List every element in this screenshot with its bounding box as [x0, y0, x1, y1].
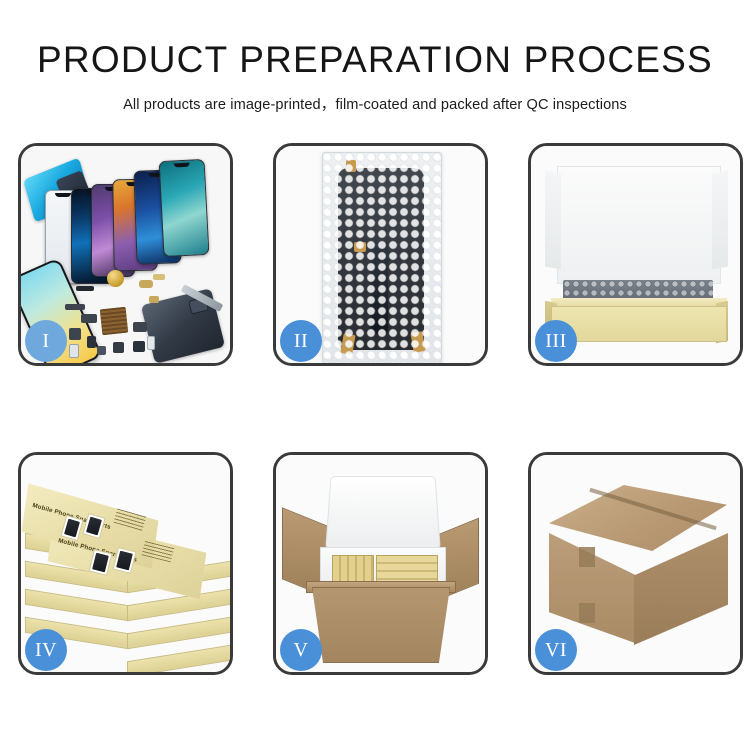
step-numeral: VI	[545, 639, 567, 662]
box-lid-icon	[557, 166, 721, 284]
gold-contact-icon	[354, 242, 366, 252]
carton-tape-icon	[579, 603, 595, 623]
spare-part-icon	[149, 296, 159, 303]
header: PRODUCT PREPARATION PROCESS All products…	[0, 40, 750, 114]
phone-icon-5	[159, 159, 210, 257]
spare-part-icon	[81, 314, 97, 323]
process-step-grid: I II	[18, 143, 743, 675]
step-numeral: V	[294, 639, 309, 662]
process-step-panel-5[interactable]: V	[273, 452, 488, 675]
spare-part-icon	[133, 322, 147, 332]
spare-part-icon	[76, 286, 94, 291]
spare-part-icon	[147, 336, 155, 350]
gold-contact-icon	[346, 160, 356, 172]
product-preparation-infographic: PRODUCT PREPARATION PROCESS All products…	[0, 0, 750, 750]
carton-top-face	[549, 485, 727, 551]
foam-box-lid-icon	[325, 476, 440, 549]
spare-part-icon	[133, 341, 145, 352]
spare-part-icon	[153, 274, 165, 280]
process-step-panel-1[interactable]: I	[18, 143, 233, 366]
stacked-box	[127, 645, 230, 672]
speaker-component-icon	[107, 270, 124, 287]
process-step-panel-3[interactable]: III	[528, 143, 743, 366]
step-badge-2: II	[280, 320, 322, 362]
step-numeral: III	[545, 330, 566, 353]
carton-front	[312, 587, 450, 663]
step-badge-1: I	[25, 320, 67, 362]
inner-box-front	[551, 306, 727, 342]
box-lid-right-flap	[712, 171, 728, 270]
step-numeral: IV	[35, 639, 57, 662]
stacked-box	[127, 617, 230, 649]
carton-tape-icon	[579, 547, 595, 567]
page-subtitle: All products are image-printed，film-coat…	[0, 93, 750, 114]
step-badge-3: III	[535, 320, 577, 362]
spare-part-icon	[97, 346, 106, 355]
step-badge-5: V	[280, 629, 322, 671]
process-step-panel-4[interactable]: Mobile Phone Spare Parts Mobile Phone Sp…	[18, 452, 233, 675]
step-badge-6: VI	[535, 629, 577, 671]
spare-part-icon	[87, 336, 96, 348]
spare-part-icon	[139, 280, 153, 288]
spare-part-icon	[113, 342, 124, 353]
flex-cable-icon	[370, 242, 388, 334]
spare-part-icon	[69, 344, 79, 358]
step-badge-4: IV	[25, 629, 67, 671]
step-numeral: II	[294, 330, 308, 353]
spare-part-icon	[69, 328, 81, 340]
step-numeral: I	[42, 330, 49, 353]
page-title: PRODUCT PREPARATION PROCESS	[0, 40, 750, 81]
chip-component-icon	[100, 307, 129, 336]
box-lid-left-flap	[545, 171, 561, 270]
process-step-panel-2[interactable]: II	[273, 143, 488, 366]
process-step-panel-6[interactable]: VI	[528, 452, 743, 675]
spare-part-icon	[65, 304, 85, 310]
stacked-box	[25, 589, 129, 621]
